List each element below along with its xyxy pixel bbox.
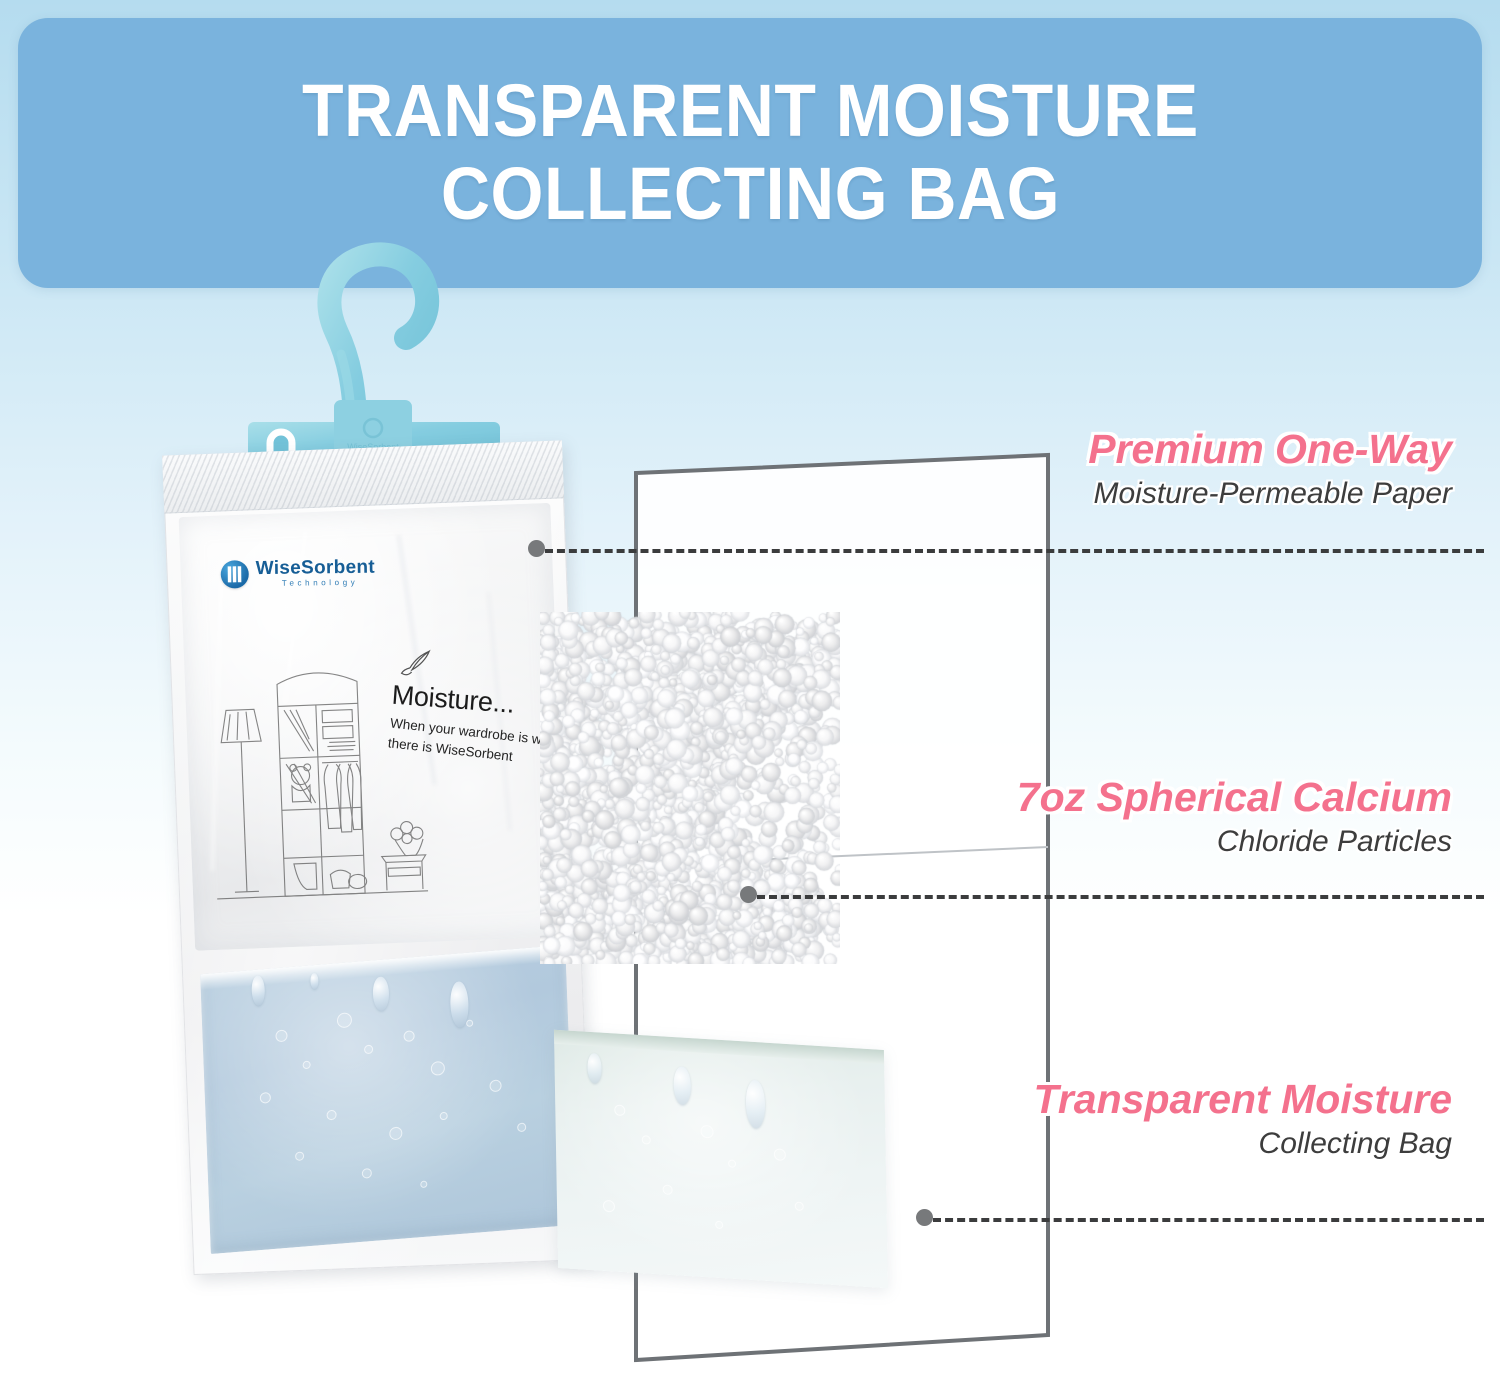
logo-name: WiseSorbent <box>256 557 376 579</box>
callout-main-calcium: 7oz Spherical Calcium <box>1017 776 1452 819</box>
moisture-bag: WiseSorbent Technology <box>162 440 593 1275</box>
product-infographic: TRANSPARENT MOISTURE COLLECTING BAG Wise… <box>0 0 1500 1388</box>
logo-w-icon <box>221 560 249 588</box>
callout-sub-premium: Moisture-Permeable Paper <box>1088 476 1452 511</box>
calcium-chloride-particles <box>540 612 840 964</box>
callout-label-bag: Transparent Moisture Collecting Bag <box>1034 1078 1452 1162</box>
callout-dash <box>545 549 1484 553</box>
quill-icon <box>399 647 435 679</box>
bag-water-compartment <box>200 945 576 1254</box>
transparent-water-sheet <box>554 1030 888 1288</box>
callout-dash <box>757 895 1484 899</box>
callout-dot <box>528 540 545 557</box>
callout-dash <box>933 1218 1484 1222</box>
bag-paper-compartment: WiseSorbent Technology <box>179 503 567 951</box>
callout-main-bag: Transparent Moisture <box>1034 1078 1452 1121</box>
callout-label-premium: Premium One-Way Moisture-Permeable Paper <box>1088 428 1452 512</box>
page-title-line1: TRANSPARENT MOISTURE <box>302 75 1199 148</box>
callout-label-calcium: 7oz Spherical Calcium Chloride Particles <box>1017 776 1452 860</box>
page-title-line2: COLLECTING BAG <box>440 158 1059 231</box>
callout-main-premium: Premium One-Way <box>1088 428 1452 471</box>
callout-dot <box>916 1209 933 1226</box>
logo-subtitle: Technology <box>282 579 375 588</box>
callout-dot <box>740 886 757 903</box>
callout-sub-bag: Collecting Bag <box>1034 1126 1452 1161</box>
wisesorbent-logo: WiseSorbent Technology <box>221 558 376 589</box>
callout-sub-calcium: Chloride Particles <box>1017 824 1452 859</box>
